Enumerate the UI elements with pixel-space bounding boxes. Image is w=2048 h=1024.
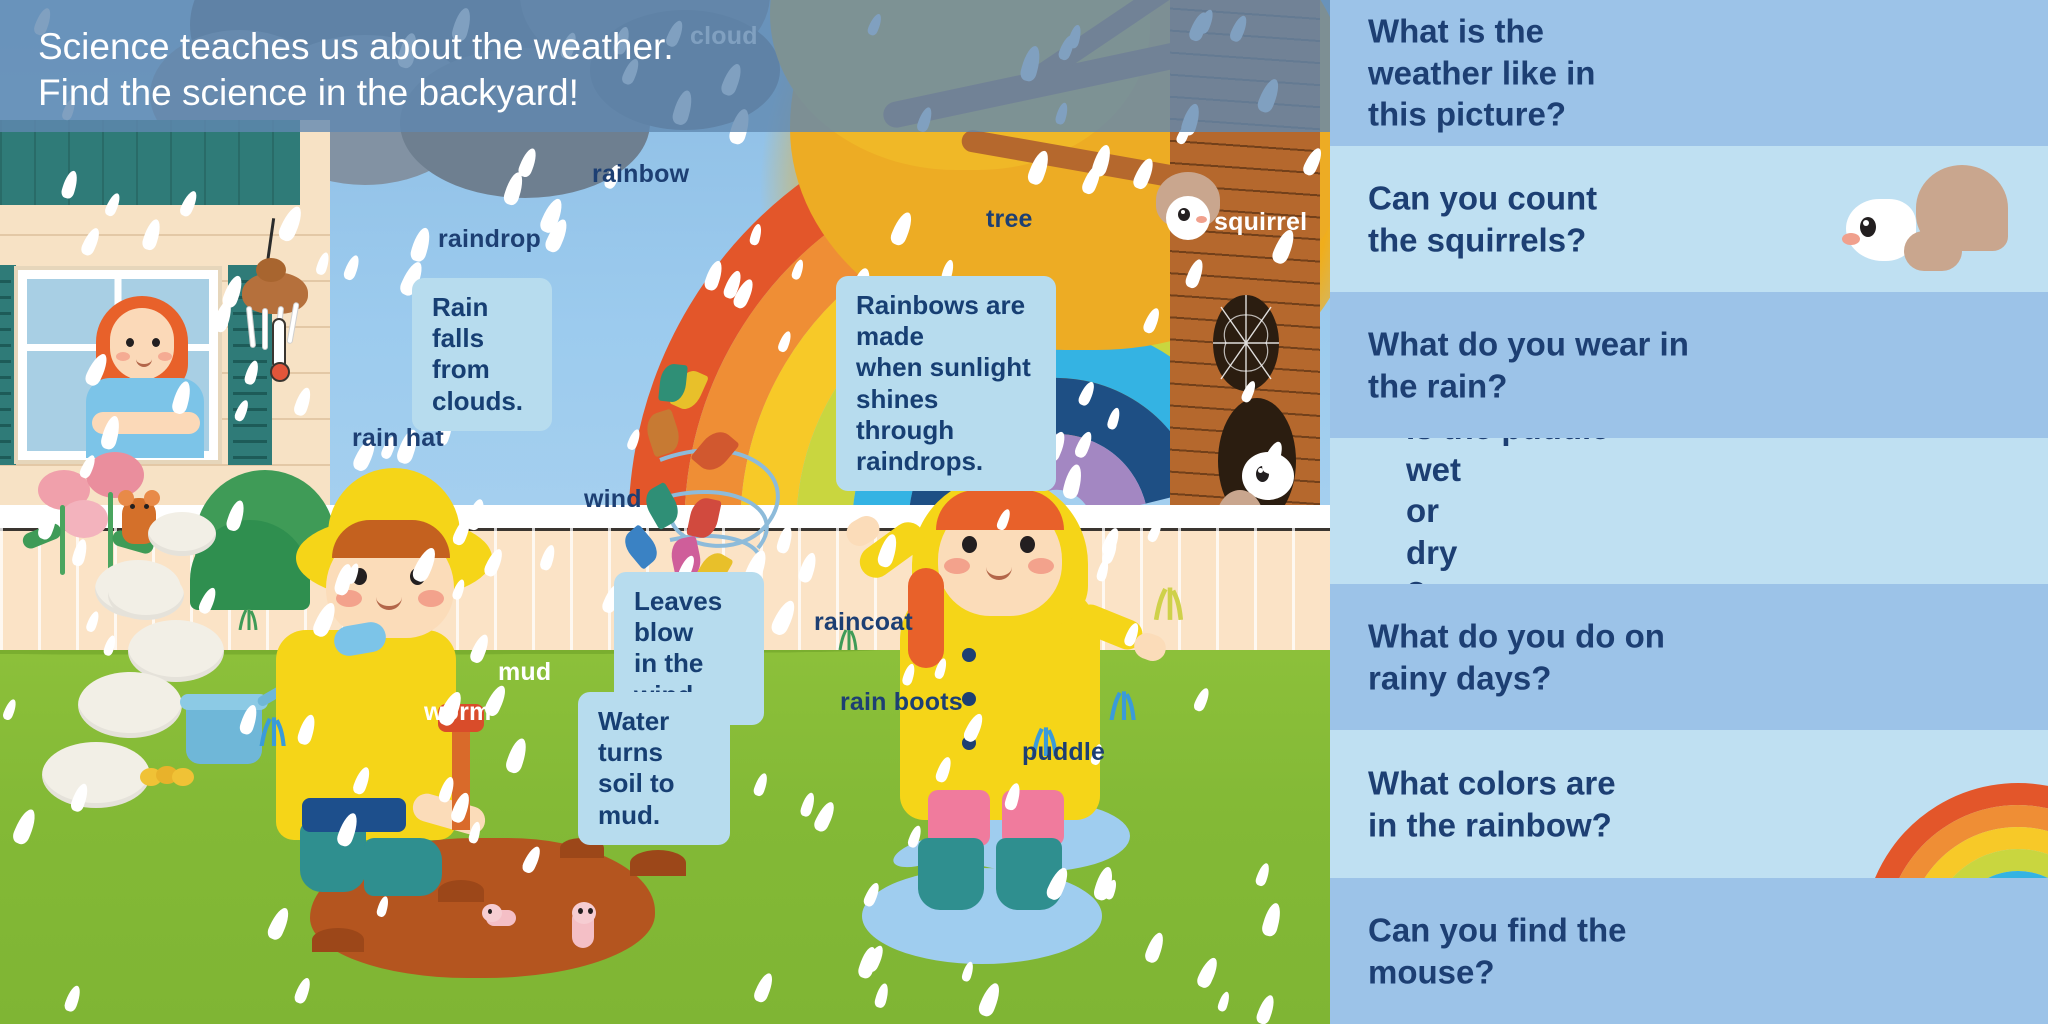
label-mud: mud — [498, 658, 551, 687]
molehill-2 — [312, 928, 364, 952]
label-rainbow: rainbow — [592, 160, 689, 189]
q-colors-text: What colors are in the rainbow? — [1330, 762, 1660, 845]
stepping-stone-6 — [148, 512, 216, 556]
fact-water-mud: Water turns soil to mud. — [578, 692, 730, 845]
page-root: cloud rainbow raindrop tree squirrel rai… — [0, 0, 2048, 1024]
wet-word: wet — [1368, 449, 1696, 491]
boy-boot-right — [364, 838, 442, 896]
sidebar-item-q-weather[interactable]: What is the weather like in this picture… — [1330, 0, 2048, 146]
label-raindrop: raindrop — [438, 225, 541, 254]
window-girl-face — [110, 308, 174, 380]
shutter-left — [0, 265, 16, 465]
sidebar-item-q-mouse[interactable]: Can you find the mouse? — [1330, 878, 2048, 1024]
sidebar-item-q-wear[interactable]: What do you wear in the rain? — [1330, 292, 2048, 438]
banner-line-2: Find the science in the backyard! — [38, 72, 579, 113]
q-puddle-text: Is the puddle wet or dry? — [1330, 438, 1710, 584]
spider-web-icon — [1213, 295, 1279, 391]
wind-chime-tube-2 — [262, 308, 268, 350]
banner-line-1: Science teaches us about the weather. — [38, 26, 674, 67]
rain-boot-left — [918, 838, 984, 910]
stepping-stone-3 — [78, 672, 182, 738]
grass-tuft-1 — [236, 608, 262, 630]
window-girl-cheek-right — [158, 352, 172, 361]
girl-hair-side — [908, 568, 944, 668]
window-girl-eye-right — [152, 338, 160, 347]
molehill-1 — [438, 880, 484, 902]
fact-rainbows-made: Rainbows are made when sunlight shines t… — [836, 276, 1056, 491]
wind-chime-top — [256, 258, 286, 282]
question-sidebar: What is the weather like in this picture… — [1330, 0, 2048, 1024]
grass-tuft-4 — [1106, 690, 1142, 720]
label-wind: wind — [584, 485, 642, 514]
q-squirrels-text: Can you count the squirrels? — [1330, 177, 1660, 260]
header-banner: Science teaches us about the weather. Fi… — [0, 0, 1330, 132]
squirrel-icon — [1830, 159, 2030, 279]
grass-tuft-6 — [256, 716, 292, 746]
window-girl-cheek-left — [116, 352, 130, 361]
label-rain-boots: rain boots — [840, 688, 963, 717]
thermometer-bulb — [270, 362, 290, 382]
sidebar-item-q-puddle[interactable]: Is the puddle wet or dry? — [1330, 438, 2048, 584]
dry-word: dry — [1368, 532, 1696, 574]
q-mouse-text: Can you find the mouse? — [1330, 909, 1660, 992]
sidebar-item-q-colors[interactable]: What colors are in the rainbow? — [1330, 730, 2048, 878]
stepping-stone-4 — [42, 742, 150, 808]
label-tree: tree — [986, 205, 1033, 234]
fact-rain-falls: Rain falls from clouds. — [412, 278, 552, 431]
illustration-panel: cloud rainbow raindrop tree squirrel rai… — [0, 0, 1330, 1024]
molehill-3 — [630, 850, 686, 876]
label-puddle: puddle — [1022, 738, 1105, 767]
grass-tuft-3 — [1150, 586, 1190, 618]
label-raincoat: raincoat — [814, 608, 913, 637]
label-squirrel: squirrel — [1214, 208, 1307, 237]
house-roof-texture — [0, 120, 300, 205]
boy-boot-left — [300, 822, 366, 892]
q-rainydays-text: What do you do on rainy days? — [1330, 615, 1710, 698]
sidebar-item-q-squirrels[interactable]: Can you count the squirrels? — [1330, 146, 2048, 292]
sidebar-item-q-rainydays[interactable]: What do you do on rainy days? — [1330, 584, 2048, 730]
q-weather-text: What is the weather like in this picture… — [1330, 11, 1660, 136]
rainbow-icon — [1868, 730, 2048, 878]
window-girl-eye-left — [126, 338, 134, 347]
label-worm: worm — [424, 698, 491, 727]
q-wear-text: What do you wear in the rain? — [1330, 323, 1710, 406]
stepping-stone-5 — [108, 570, 184, 620]
